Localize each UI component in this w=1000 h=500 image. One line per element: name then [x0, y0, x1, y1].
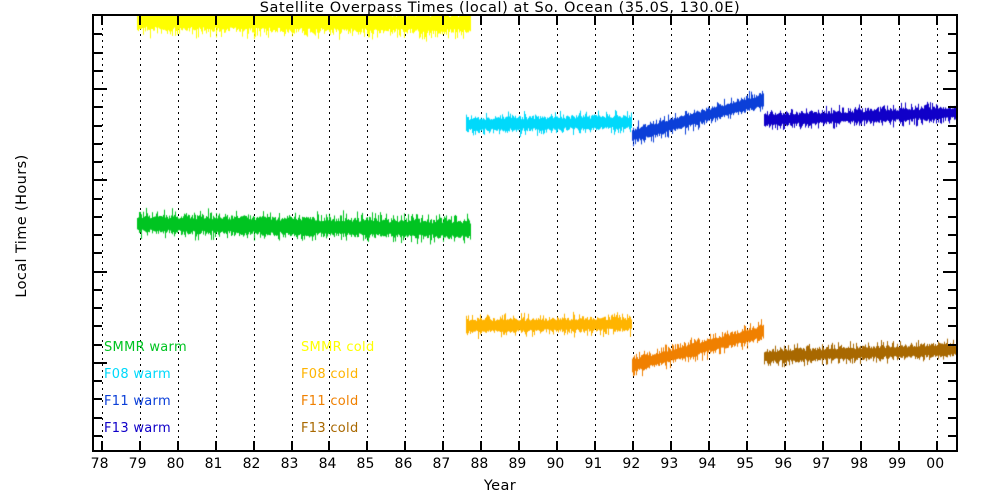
y-tick [948, 380, 956, 382]
y-tick [94, 106, 102, 108]
y-tick [948, 33, 956, 35]
x-tick [670, 441, 672, 450]
x-tick [860, 16, 862, 25]
y-tick [94, 380, 102, 382]
y-axis-title: Local Time (Hours) [14, 154, 30, 297]
x-tick-label-99: 99 [888, 456, 906, 472]
y-tick [948, 307, 956, 309]
x-tick [632, 16, 634, 25]
x-tick [556, 16, 558, 25]
y-tick [948, 234, 956, 236]
y-tick [943, 179, 956, 181]
x-tick-label-86: 86 [395, 456, 413, 472]
y-tick [943, 362, 956, 364]
x-tick-label-90: 90 [546, 456, 564, 472]
y-tick [94, 252, 102, 254]
y-tick [94, 52, 102, 54]
x-tick [366, 16, 368, 25]
x-tick-label-89: 89 [508, 456, 526, 472]
y-tick [94, 344, 102, 346]
x-tick [291, 16, 293, 25]
x-tick [215, 16, 217, 25]
y-tick [94, 398, 102, 400]
legend-item-f13-warm: F13 warm [104, 421, 187, 436]
x-tick [215, 441, 217, 450]
x-tick-label-92: 92 [622, 456, 640, 472]
x-tick [442, 16, 444, 25]
x-tick-label-91: 91 [584, 456, 602, 472]
legend-item-smmr-cold: SMMR cold [301, 340, 375, 355]
x-tick-label-98: 98 [850, 456, 868, 472]
x-tick-label-97: 97 [812, 456, 830, 472]
y-tick [948, 435, 956, 437]
x-tick [594, 441, 596, 450]
x-tick-label-95: 95 [736, 456, 754, 472]
y-tick [948, 125, 956, 127]
y-tick [948, 52, 956, 54]
x-tick [328, 441, 330, 450]
x-tick [139, 16, 141, 25]
x-tick [708, 441, 710, 450]
x-tick [480, 16, 482, 25]
plot-frame: SMMR warm F08 warm F11 warm F13 warm SMM… [92, 14, 958, 452]
x-tick [253, 441, 255, 450]
y-tick [94, 198, 102, 200]
y-tick [948, 70, 956, 72]
x-tick [366, 441, 368, 450]
x-tick [404, 16, 406, 25]
y-tick [948, 417, 956, 419]
y-tick [94, 161, 102, 163]
x-tick [936, 441, 938, 450]
x-tick [594, 16, 596, 25]
x-tick [860, 441, 862, 450]
x-tick [632, 441, 634, 450]
y-tick [948, 198, 956, 200]
y-tick [943, 271, 956, 273]
y-tick [94, 143, 102, 145]
y-tick [948, 252, 956, 254]
legend-item-f11-cold: F11 cold [301, 394, 375, 409]
y-tick [94, 33, 102, 35]
data-series-canvas [94, 16, 956, 450]
x-tick [253, 16, 255, 25]
x-tick [328, 16, 330, 25]
y-tick [948, 289, 956, 291]
x-tick-label-87: 87 [433, 456, 451, 472]
legend-item-f11-warm: F11 warm [104, 394, 187, 409]
x-tick-label-80: 80 [167, 456, 185, 472]
x-tick [898, 16, 900, 25]
x-tick [746, 16, 748, 25]
y-tick [948, 344, 956, 346]
x-tick-label-00: 00 [926, 456, 944, 472]
x-tick-label-88: 88 [470, 456, 488, 472]
x-tick-label-85: 85 [357, 456, 375, 472]
x-tick [442, 441, 444, 450]
y-tick [94, 289, 102, 291]
y-tick [94, 271, 107, 273]
y-tick [94, 325, 102, 327]
y-tick [94, 125, 102, 127]
x-tick-label-82: 82 [243, 456, 261, 472]
x-tick-label-83: 83 [281, 456, 299, 472]
x-tick [708, 16, 710, 25]
y-tick [948, 161, 956, 163]
y-tick [94, 179, 107, 181]
x-tick [556, 441, 558, 450]
x-tick-label-81: 81 [205, 456, 223, 472]
legend-item-f08-cold: F08 cold [301, 367, 375, 382]
legend-warm-column: SMMR warm F08 warm F11 warm F13 warm [104, 340, 187, 436]
y-tick [94, 216, 102, 218]
y-tick [94, 70, 102, 72]
y-tick [948, 216, 956, 218]
y-tick [948, 398, 956, 400]
x-tick-label-78: 78 [91, 456, 109, 472]
x-tick [480, 441, 482, 450]
x-tick-label-96: 96 [774, 456, 792, 472]
chart-root: Satellite Overpass Times (local) at So. … [0, 0, 1000, 500]
x-tick [822, 16, 824, 25]
x-tick [139, 441, 141, 450]
x-tick [898, 441, 900, 450]
plot-area [94, 16, 956, 450]
x-tick-label-79: 79 [129, 456, 147, 472]
x-tick [518, 16, 520, 25]
y-tick [94, 417, 102, 419]
y-tick [943, 88, 956, 90]
x-tick [404, 441, 406, 450]
x-tick [784, 441, 786, 450]
x-tick [746, 441, 748, 450]
legend-item-smmr-warm: SMMR warm [104, 340, 187, 355]
x-tick-label-94: 94 [698, 456, 716, 472]
x-axis-title: Year [0, 478, 1000, 494]
y-tick [94, 435, 102, 437]
legend-item-f13-cold: F13 cold [301, 421, 375, 436]
x-tick [518, 441, 520, 450]
x-tick [936, 16, 938, 25]
x-tick [101, 16, 103, 25]
x-tick [177, 441, 179, 450]
x-tick [177, 16, 179, 25]
y-tick [948, 106, 956, 108]
x-tick [670, 16, 672, 25]
y-tick [948, 143, 956, 145]
legend-item-f08-warm: F08 warm [104, 367, 187, 382]
x-tick [784, 16, 786, 25]
y-tick [94, 234, 102, 236]
y-tick [948, 325, 956, 327]
x-tick-label-93: 93 [660, 456, 678, 472]
x-tick-label-84: 84 [319, 456, 337, 472]
x-tick [101, 441, 103, 450]
x-tick [822, 441, 824, 450]
y-tick [94, 88, 107, 90]
x-tick [291, 441, 293, 450]
legend-cold-column: SMMR cold F08 cold F11 cold F13 cold [301, 340, 375, 436]
y-tick [94, 307, 102, 309]
